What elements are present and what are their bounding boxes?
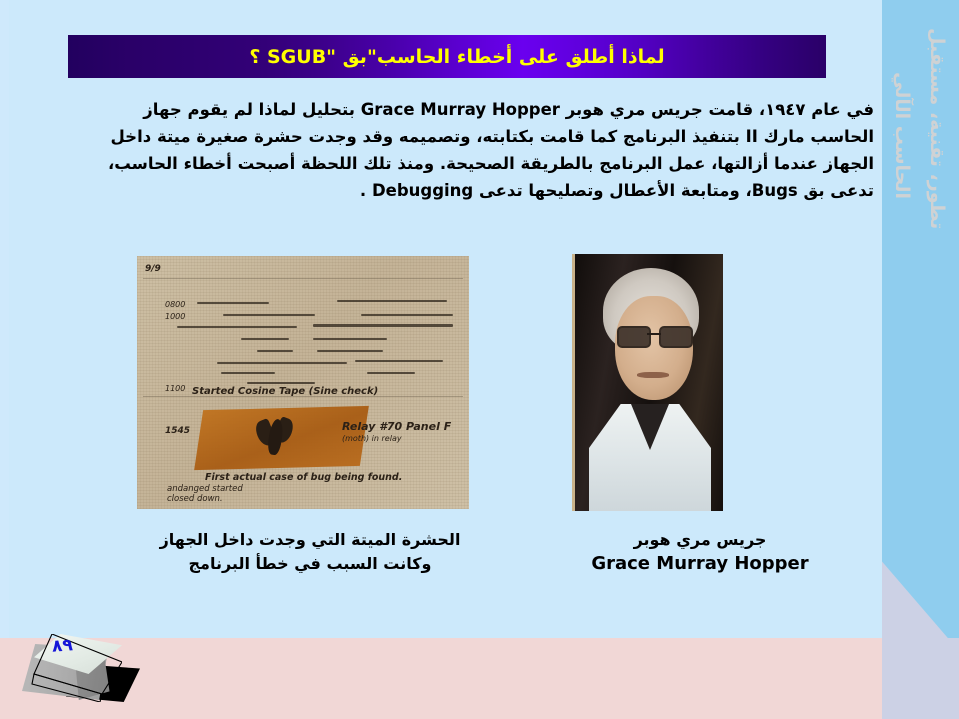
logbook-scribble (355, 360, 443, 362)
logbook-image: 9/9 0800 1000 1100 1545 Started Cosine T… (137, 256, 469, 509)
logbook-caption-line-2: وكانت السبب في خطأ البرنامج (189, 554, 432, 573)
logbook-scribble (313, 324, 453, 327)
logbook-scribble (223, 314, 315, 316)
logbook-time-1100: 1100 (165, 384, 185, 393)
logbook-time-1545: 1545 (165, 426, 190, 436)
portrait-caption: جريس مري هوبر Grace Murray Hopper (570, 528, 830, 576)
page-number-keycap: ٨٩ (18, 628, 138, 706)
logbook-scribble (217, 362, 347, 364)
logbook-caption-line-1: الحشرة الميتة التي وجدت داخل الجهاز (160, 530, 461, 549)
portrait-caption-arabic: جريس مري هوبر (570, 528, 830, 552)
logbook-caption: الحشرة الميتة التي وجدت داخل الجهاز وكان… (150, 528, 470, 576)
slide-title-banner: لماذا أطلق على أخطاء الحاسب"بق "BUGS ؟ (68, 35, 826, 78)
logbook-relay-subnote: (moth) in relay (342, 434, 402, 443)
logbook-scribble (313, 338, 387, 340)
logbook-first-bug-note: First actual case of bug being found. (205, 472, 402, 483)
logbook-rule (143, 278, 463, 279)
logbook-figure: 9/9 0800 1000 1100 1545 Started Cosine T… (137, 256, 469, 509)
glasses-lens-right (659, 326, 693, 348)
logbook-scribble (177, 326, 297, 328)
logbook-time-0800: 0800 (165, 300, 185, 309)
body-line-3: الجهاز عندما أزالتها، عمل البرنامج بالطر… (44, 150, 874, 177)
logbook-scribble (257, 350, 293, 352)
portrait-caption-english: Grace Murray Hopper (570, 552, 830, 576)
glasses-lens-left (617, 326, 651, 348)
logbook-scribble (221, 372, 275, 374)
logbook-relay-note: Relay #70 Panel F (342, 420, 451, 433)
grace-hopper-photo (572, 254, 723, 511)
page-number-text: ٨٩ (51, 635, 73, 656)
logbook-started-note: Started Cosine Tape (Sine check) (192, 386, 378, 397)
logbook-scribble (367, 372, 415, 374)
slide-title-text: لماذا أطلق على أخطاء الحاسب"بق "BUGS ؟ (229, 46, 664, 68)
sidebar-text-tagline: تطور، تقنية، مستقبل (926, 28, 948, 229)
logbook-tail-note-2: closed down. (167, 494, 223, 504)
logbook-time-1000: 1000 (165, 312, 185, 321)
logbook-scribble (247, 382, 315, 384)
portrait-mouth (637, 372, 669, 378)
logbook-date-note: 9/9 (145, 264, 161, 274)
logbook-scribble (197, 302, 269, 304)
body-paragraph: في عام ١٩٤٧، قامت جريس مري هوبر Grace Mu… (44, 96, 874, 204)
left-edge-strip (0, 0, 9, 638)
logbook-scribble (317, 350, 383, 352)
portrait-face (615, 296, 693, 400)
body-line-2: الحاسب مارك II بتنفيذ البرنامج كما قامت … (44, 123, 874, 150)
logbook-scribble (361, 314, 453, 316)
sidebar-lavender-base (882, 638, 959, 719)
body-line-1: في عام ١٩٤٧، قامت جريس مري هوبر Grace Mu… (44, 96, 874, 123)
logbook-tail-note-1: andanged started (167, 484, 243, 494)
slide-canvas: تطور، تقنية، مستقبل الحاسب الآلي لماذا أ… (0, 0, 959, 719)
sidebar-text-subject: الحاسب الآلي (891, 72, 913, 199)
logbook-scribble (241, 338, 289, 340)
body-line-4: تدعى بق Bugs، ومتابعة الأعطال وتصليحها ت… (44, 177, 874, 204)
logbook-scribble (337, 300, 447, 302)
portrait-figure (572, 254, 720, 511)
glasses-icon (615, 326, 695, 344)
